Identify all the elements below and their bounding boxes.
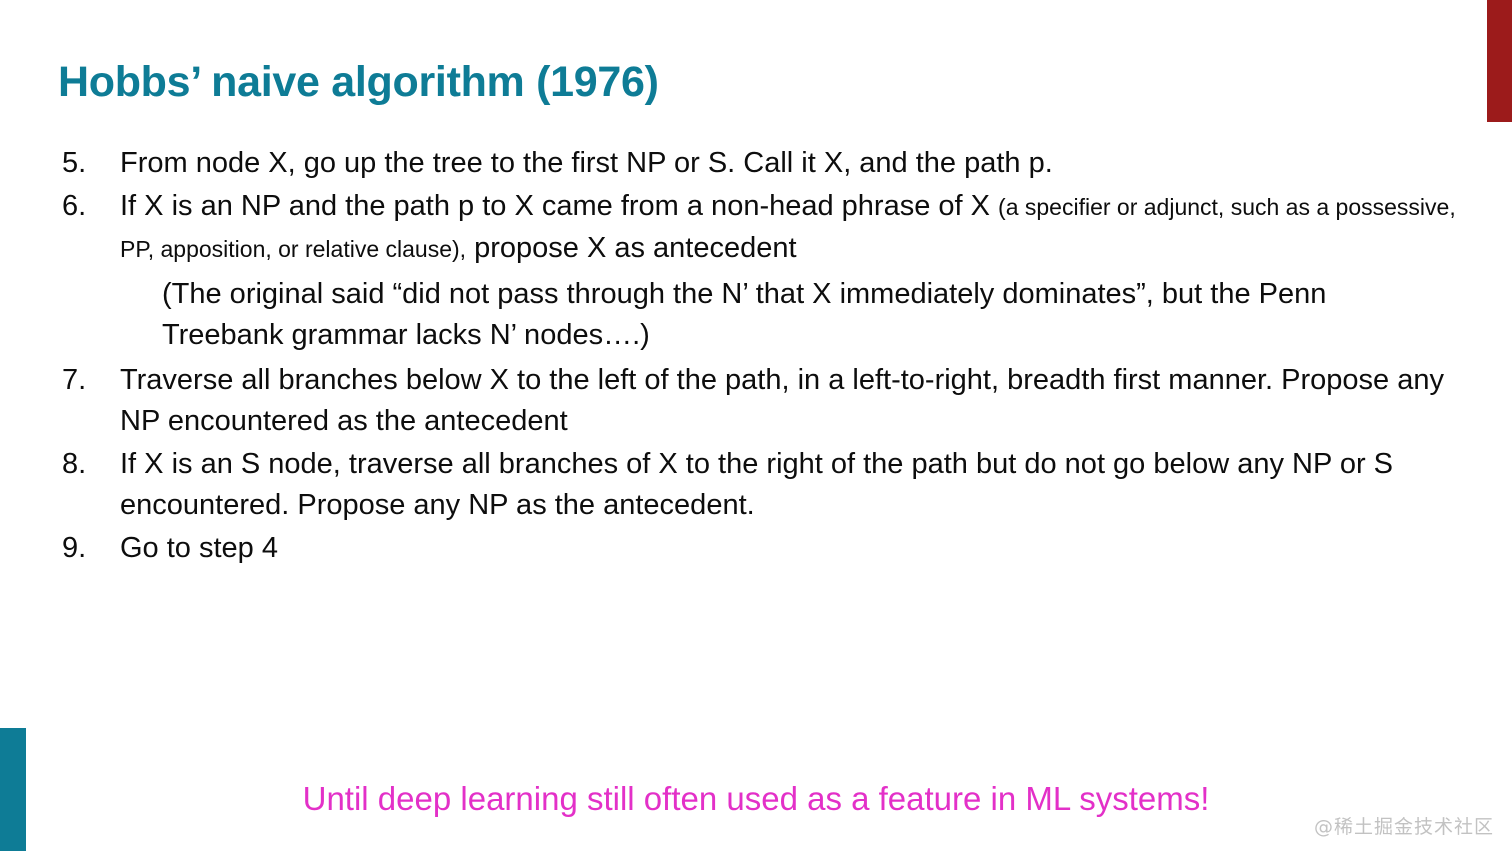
list-item-number: 8.	[58, 444, 120, 485]
list-item: 5. From node X, go up the tree to the fi…	[58, 143, 1458, 184]
sub-paragraph: (The original said “did not pass through…	[162, 274, 1452, 356]
list-item: 9. Go to step 4	[58, 528, 1458, 569]
bottom-highlight-note: Until deep learning still often used as …	[0, 780, 1512, 818]
accent-bar-top-right	[1487, 0, 1512, 122]
list-item-number: 9.	[58, 528, 120, 569]
list-item: 7. Traverse all branches below X to the …	[58, 360, 1458, 442]
list-item-text: If X is an NP and the path p to X came f…	[120, 186, 1458, 270]
list-item-text-tail: propose X as antecedent	[466, 232, 797, 264]
list-item-number: 6.	[58, 186, 120, 227]
slide: Hobbs’ naive algorithm (1976) 5. From no…	[0, 0, 1512, 851]
list-item: 6. If X is an NP and the path p to X cam…	[58, 186, 1458, 270]
list-item-text: From node X, go up the tree to the first…	[120, 143, 1458, 184]
list-item-number: 7.	[58, 360, 120, 401]
watermark: @稀土掘金技术社区	[1314, 812, 1494, 839]
list-item-number: 5.	[58, 143, 120, 184]
page-title: Hobbs’ naive algorithm (1976)	[58, 58, 659, 107]
algorithm-step-list: 5. From node X, go up the tree to the fi…	[58, 143, 1458, 571]
list-item-text: Go to step 4	[120, 528, 1458, 569]
list-item-text: Traverse all branches below X to the lef…	[120, 360, 1458, 442]
list-item: 8. If X is an S node, traverse all branc…	[58, 444, 1458, 526]
list-item-text: If X is an S node, traverse all branches…	[120, 444, 1458, 526]
list-item-text-main: If X is an NP and the path p to X came f…	[120, 190, 998, 222]
